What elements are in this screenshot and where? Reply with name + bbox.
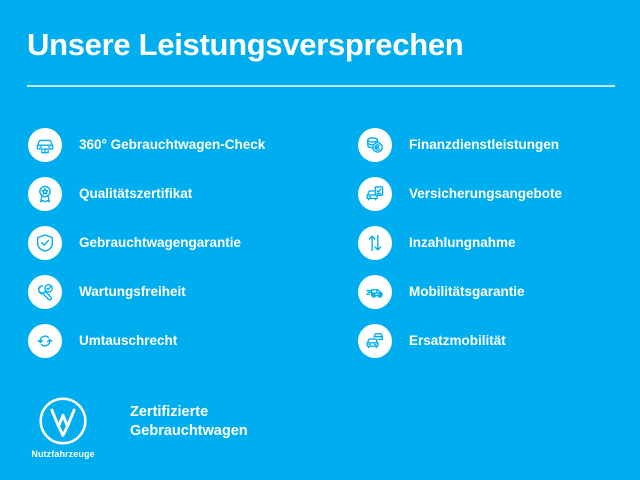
award-rosette-icon — [28, 177, 62, 211]
benefit-label: Inzahlungnahme — [409, 236, 516, 250]
benefit-item-wartungsfreiheit[interactable]: Wartungsfreiheit — [28, 267, 348, 316]
header: Unsere Leistungsversprechen — [27, 28, 615, 87]
footer-caption-line1: Zertifizierte — [130, 403, 248, 422]
benefit-item-finanzdienstleistungen[interactable]: Finanzdienstleistungen — [358, 120, 633, 169]
benefit-label: Qualitätszertifikat — [79, 187, 192, 201]
shield-check-icon — [28, 226, 62, 260]
coins-euro-icon — [358, 128, 392, 162]
wrench-check-icon — [28, 275, 62, 309]
benefits-column-right: Finanzdienstleistungen Versicheru — [358, 120, 633, 365]
benefit-label: Versicherungsangebote — [409, 187, 562, 201]
brand-subtitle: Nutzfahrzeuge — [31, 449, 94, 459]
benefit-item-gebrauchtwagengarantie[interactable]: Gebrauchtwagengarantie — [28, 218, 348, 267]
promise-slide: Unsere Leistungsversprechen — [0, 0, 640, 480]
car-inspection-icon — [28, 128, 62, 162]
volkswagen-logo: Nutzfahrzeuge — [30, 396, 96, 459]
vw-roundel-icon — [38, 396, 88, 446]
header-divider — [27, 85, 615, 87]
benefit-label: Ersatzmobilität — [409, 334, 506, 348]
van-motion-icon — [358, 275, 392, 309]
benefit-item-umtauschrecht[interactable]: Umtauschrecht — [28, 316, 348, 365]
benefit-label: Mobilitätsgarantie — [409, 285, 525, 299]
benefits-column-left: 360° Gebrauchtwagen-Check Qualitätszerti… — [28, 120, 348, 365]
benefits-grid: 360° Gebrauchtwagen-Check Qualitätszerti… — [0, 120, 640, 365]
benefit-label: Umtauschrecht — [79, 334, 177, 348]
benefit-item-mobilitaetsgarantie[interactable]: Mobilitätsgarantie — [358, 267, 633, 316]
brand-footer: Nutzfahrzeuge Zertifizierte Gebrauchtwag… — [30, 396, 248, 459]
page-title: Unsere Leistungsversprechen — [27, 28, 615, 62]
benefit-item-ersatzmobilitaet[interactable]: Ersatzmobilität — [358, 316, 633, 365]
benefit-item-inzahlungnahme[interactable]: Inzahlungnahme — [358, 218, 633, 267]
benefit-label: 360° Gebrauchtwagen-Check — [79, 138, 265, 152]
two-cars-icon — [358, 324, 392, 358]
benefit-item-qualitaetszertifikat[interactable]: Qualitätszertifikat — [28, 169, 348, 218]
benefit-item-versicherungsangebote[interactable]: Versicherungsangebote — [358, 169, 633, 218]
benefit-label: Wartungsfreiheit — [79, 285, 186, 299]
benefit-item-gebrauchtwagen-check[interactable]: 360° Gebrauchtwagen-Check — [28, 120, 348, 169]
footer-caption: Zertifizierte Gebrauchtwagen — [130, 403, 248, 441]
up-down-arrows-icon — [358, 226, 392, 260]
footer-caption-line2: Gebrauchtwagen — [130, 422, 248, 441]
car-document-icon — [358, 177, 392, 211]
benefit-label: Gebrauchtwagengarantie — [79, 236, 241, 250]
benefit-label: Finanzdienstleistungen — [409, 138, 559, 152]
exchange-arrows-icon — [28, 324, 62, 358]
